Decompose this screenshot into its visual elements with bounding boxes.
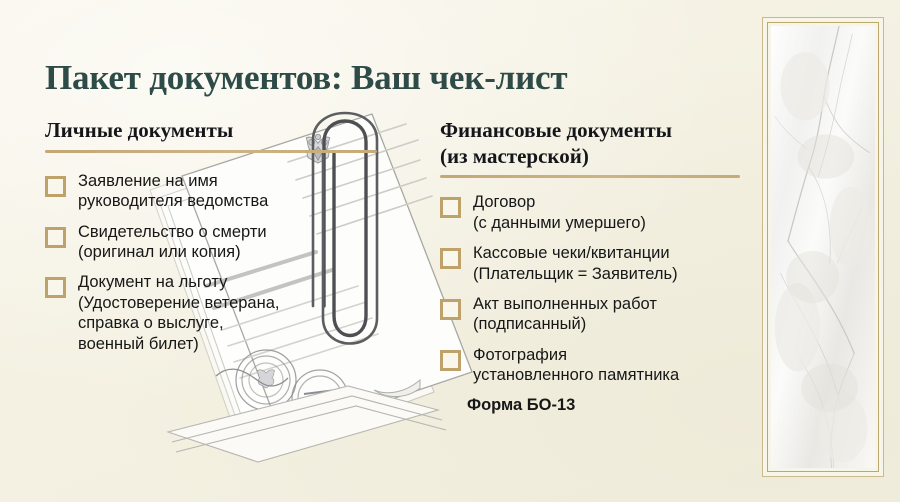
marble-frame-inner xyxy=(767,22,879,472)
column-financial-documents: Финансовые документы (из мастерской) Дог… xyxy=(440,118,750,415)
checklist-right: Договор (с данными умершего) Кассовые че… xyxy=(440,192,750,386)
seal-stamp-small xyxy=(292,370,348,426)
checkbox-icon[interactable] xyxy=(45,277,66,298)
marble-texture xyxy=(771,26,875,468)
marble-side-panel xyxy=(762,17,884,477)
column-right-divider xyxy=(440,175,740,178)
list-item-label: Договор (с данными умершего) xyxy=(473,192,646,233)
list-item[interactable]: Фотография установленного памятника xyxy=(440,345,750,386)
column-left-divider xyxy=(45,150,377,153)
list-item[interactable]: Свидетельство о смерти (оригинал или коп… xyxy=(45,222,385,263)
list-item-label: Акт выполненных работ (подписанный) xyxy=(473,294,657,335)
list-item-label: Кассовые чеки/квитанции (Плательщик = За… xyxy=(473,243,678,284)
page-title: Пакет документов: Ваш чек-лист xyxy=(45,59,567,98)
list-item-label: Документ на льготу (Удостоверение ветера… xyxy=(78,272,279,354)
checkbox-icon[interactable] xyxy=(440,248,461,269)
list-item-label: Свидетельство о смерти (оригинал или коп… xyxy=(78,222,267,263)
column-right-heading: Финансовые документы (из мастерской) xyxy=(440,118,750,169)
column-personal-documents: Личные документы Заявление на имя руково… xyxy=(45,118,385,364)
column-left-heading: Личные документы xyxy=(45,118,385,144)
checkbox-icon[interactable] xyxy=(440,299,461,320)
checkbox-icon[interactable] xyxy=(440,197,461,218)
list-item[interactable]: Кассовые чеки/квитанции (Плательщик = За… xyxy=(440,243,750,284)
checkbox-icon[interactable] xyxy=(45,176,66,197)
list-item-label: Фотография установленного памятника xyxy=(473,345,679,386)
slide-root: Пакет документов: Ваш чек-лист Личные до… xyxy=(0,0,900,502)
list-item[interactable]: Договор (с данными умершего) xyxy=(440,192,750,233)
form-note: Форма БО-13 xyxy=(467,396,750,415)
list-item[interactable]: Заявление на имя руководителя ведомства xyxy=(45,171,385,212)
list-item-label: Заявление на имя руководителя ведомства xyxy=(78,171,268,212)
list-item[interactable]: Документ на льготу (Удостоверение ветера… xyxy=(45,272,385,354)
checkbox-icon[interactable] xyxy=(45,227,66,248)
checklist-left: Заявление на имя руководителя ведомства … xyxy=(45,171,385,355)
checkbox-icon[interactable] xyxy=(440,350,461,371)
list-item[interactable]: Акт выполненных работ (подписанный) xyxy=(440,294,750,335)
